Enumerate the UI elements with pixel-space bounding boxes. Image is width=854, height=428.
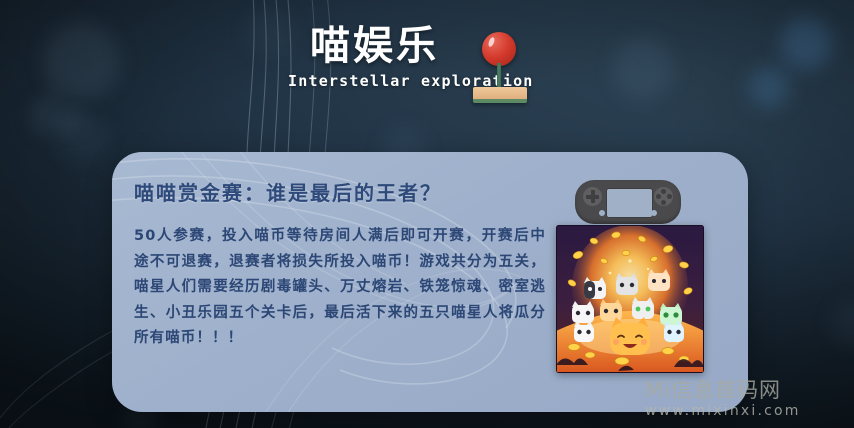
game-thumbnail[interactable]: [556, 225, 704, 373]
card-title: 喵喵赏金赛：谁是最后的王者？: [134, 180, 442, 206]
watermark-site-name: Mi信息首码网: [645, 378, 845, 402]
joystick-base: [473, 87, 527, 103]
joystick-icon: [470, 32, 532, 102]
brand-title: 喵娱乐: [310, 24, 439, 68]
watermark-url: www.mixinxi.com: [645, 403, 845, 420]
screenshot-root: 喵娱乐 Interstellar exploration: [0, 0, 854, 428]
dpad-icon: [583, 187, 602, 206]
card-description: 50人参赛，投入喵币等待房间人满后即可开赛，开赛后中途不可退赛，退赛者将损失所投…: [134, 224, 546, 352]
thumbnail-artwork: [556, 225, 704, 373]
console-dot-right: [651, 210, 657, 216]
abxy-buttons-icon: [654, 187, 673, 206]
joystick-ball: [482, 32, 516, 66]
watermark: Mi信息首码网 www.mixinxi.com: [645, 378, 845, 420]
console-dot-left: [599, 210, 605, 216]
promo-card[interactable]: 喵喵赏金赛：谁是最后的王者？ 50人参赛，投入喵币等待房间人满后即可开赛，开赛后…: [112, 152, 748, 412]
handheld-console-icon: [575, 180, 681, 224]
console-screen: [606, 188, 653, 218]
page-header: 喵娱乐 Interstellar exploration: [0, 6, 854, 106]
